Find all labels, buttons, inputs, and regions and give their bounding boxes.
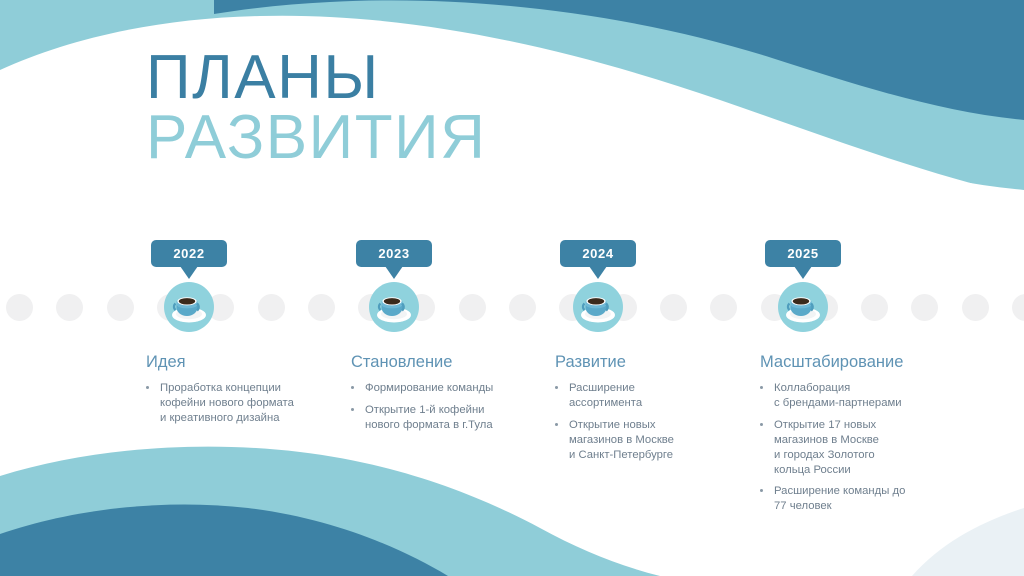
list-item: Коллаборация с брендами-партнерами xyxy=(760,381,970,411)
timeline-track-dot xyxy=(1012,294,1024,321)
coffee-cup-icon[interactable] xyxy=(573,282,623,332)
year-badge[interactable]: 2024 xyxy=(560,240,636,267)
bullet-point-icon xyxy=(146,386,149,389)
badge-pointer-triangle xyxy=(180,266,198,279)
slide-canvas: ПЛАНЫ РАЗВИТИЯ 2022202320242025 ИдеяПрор… xyxy=(0,0,1024,576)
timeline-milestone[interactable]: 2025 xyxy=(765,240,841,340)
timeline-track-dot xyxy=(258,294,285,321)
timeline-track-dot xyxy=(107,294,134,321)
timeline-track-dot xyxy=(509,294,536,321)
milestone-column: РазвитиеРасширение ассортиментаОткрытие … xyxy=(555,353,755,470)
timeline-track-dot xyxy=(710,294,737,321)
year-badge[interactable]: 2022 xyxy=(151,240,227,267)
milestone-column: ИдеяПроработка концепции кофейни нового … xyxy=(146,353,346,433)
timeline-track-dot xyxy=(911,294,938,321)
milestone-bullet-list: Коллаборация с брендами-партнерамиОткрыт… xyxy=(760,381,970,514)
list-item: Расширение команды до 77 человек xyxy=(760,484,970,514)
bullet-text: Проработка концепции кофейни нового форм… xyxy=(160,382,294,424)
milestone-bullet-list: Проработка концепции кофейни нового форм… xyxy=(146,381,346,426)
milestone-bullet-list: Расширение ассортиментаОткрытие новых ма… xyxy=(555,381,755,463)
milestone-heading: Развитие xyxy=(555,353,755,372)
coffee-cup-glyph xyxy=(369,282,419,332)
title-line-secondary: РАЗВИТИЯ xyxy=(146,108,486,168)
coffee-cup-icon[interactable] xyxy=(778,282,828,332)
milestone-bullet-list: Формирование командыОткрытие 1-й кофейни… xyxy=(351,381,551,433)
bullet-point-icon xyxy=(351,386,354,389)
badge-pointer-triangle xyxy=(385,266,403,279)
timeline-track-dot xyxy=(459,294,486,321)
bullet-text: Коллаборация с брендами-партнерами xyxy=(774,382,902,409)
timeline-milestone[interactable]: 2022 xyxy=(151,240,227,340)
timeline-milestone[interactable]: 2024 xyxy=(560,240,636,340)
bullet-text: Открытие 1-й кофейни нового формата в г.… xyxy=(365,404,493,431)
list-item: Открытие 17 новых магазинов в Москве и г… xyxy=(760,418,970,478)
timeline-track-dot xyxy=(6,294,33,321)
title-line-primary: ПЛАНЫ xyxy=(146,48,486,108)
timeline-track-dot xyxy=(56,294,83,321)
year-badge[interactable]: 2025 xyxy=(765,240,841,267)
bullet-point-icon xyxy=(760,423,763,426)
page-title: ПЛАНЫ РАЗВИТИЯ xyxy=(146,48,486,167)
coffee-cup-icon[interactable] xyxy=(164,282,214,332)
bullet-text: Расширение команды до 77 человек xyxy=(774,485,905,512)
milestone-column: МасштабированиеКоллаборация с брендами-п… xyxy=(760,353,970,521)
timeline-track-dot xyxy=(962,294,989,321)
milestone-heading: Масштабирование xyxy=(760,353,970,372)
bullet-point-icon xyxy=(760,386,763,389)
coffee-cup-glyph xyxy=(778,282,828,332)
bullet-point-icon xyxy=(555,386,558,389)
coffee-cup-glyph xyxy=(573,282,623,332)
bullet-point-icon xyxy=(760,489,763,492)
bullet-text: Открытие 17 новых магазинов в Москве и г… xyxy=(774,419,879,476)
badge-pointer-triangle xyxy=(794,266,812,279)
list-item: Проработка концепции кофейни нового форм… xyxy=(146,381,346,426)
badge-pointer-triangle xyxy=(589,266,607,279)
coffee-cup-icon[interactable] xyxy=(369,282,419,332)
timeline-track-dot xyxy=(308,294,335,321)
bullet-text: Расширение ассортимента xyxy=(569,382,642,409)
bullet-text: Открытие новых магазинов в Москве и Санк… xyxy=(569,419,674,461)
bullet-point-icon xyxy=(555,423,558,426)
year-badge[interactable]: 2023 xyxy=(356,240,432,267)
coffee-cup-glyph xyxy=(164,282,214,332)
timeline-milestone[interactable]: 2023 xyxy=(356,240,432,340)
list-item: Формирование команды xyxy=(351,381,551,396)
list-item: Открытие 1-й кофейни нового формата в г.… xyxy=(351,403,551,433)
milestone-heading: Становление xyxy=(351,353,551,372)
timeline-track-dot xyxy=(861,294,888,321)
list-item: Расширение ассортимента xyxy=(555,381,755,411)
timeline-track-dot xyxy=(660,294,687,321)
milestone-heading: Идея xyxy=(146,353,346,372)
list-item: Открытие новых магазинов в Москве и Санк… xyxy=(555,418,755,463)
bullet-point-icon xyxy=(351,408,354,411)
milestone-column: СтановлениеФормирование командыОткрытие … xyxy=(351,353,551,440)
bullet-text: Формирование команды xyxy=(365,382,493,394)
